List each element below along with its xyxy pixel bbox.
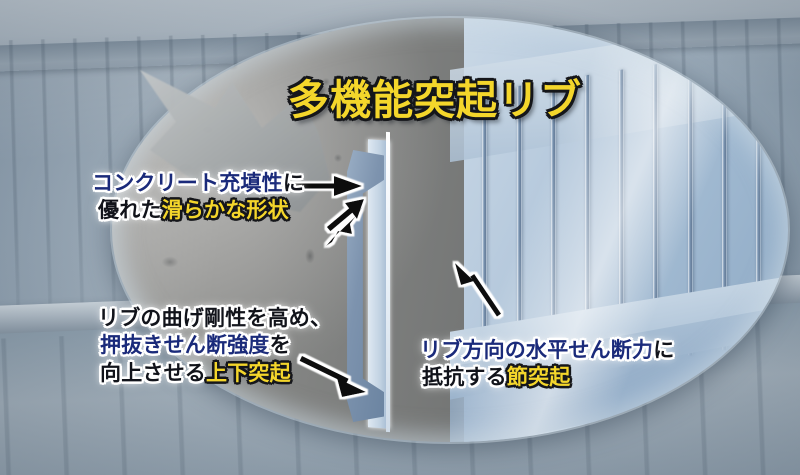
rib-front-edge (386, 132, 390, 432)
callout-text-dark: に (653, 338, 674, 362)
callout-text-dark: に (283, 171, 304, 195)
callout-text-navy: コンクリート充填性 (92, 171, 283, 195)
callout-line: 押抜きせん断強度を (100, 332, 331, 359)
page-title: 多機能突起リブ (288, 66, 582, 126)
callout-concrete-fillability: コンクリート充填性に 優れた滑らかな形状 (92, 170, 304, 225)
callout-text-dark: リブの曲げ剛性を高め、 (98, 306, 331, 330)
callout-line: 抵抗する節突起 (422, 364, 674, 391)
callout-line: リブ方向の水平せん断力に (420, 337, 674, 364)
callout-line: 向上させる上下突起 (100, 360, 331, 387)
callout-text-navy: 押抜きせん断強度 (100, 333, 270, 357)
callout-text-dark: を (270, 333, 291, 357)
callout-text-dark: 優れた (98, 198, 162, 222)
callout-text-highlight: 上下突起 (206, 361, 291, 385)
callout-text-dark: 向上させる (100, 361, 206, 385)
illustration-canvas: 多機能突起リブ コンクリート充填性に 優れた滑らかな形状 リブの曲げ剛性を高め、… (0, 0, 800, 475)
callout-text-highlight: 滑らかな形状 (162, 198, 289, 222)
callout-horizontal-shear-node: リブ方向の水平せん断力に 抵抗する節突起 (420, 337, 674, 392)
callout-line: 優れた滑らかな形状 (98, 197, 304, 224)
callout-text-dark: 抵抗する (422, 365, 507, 389)
callout-line: コンクリート充填性に (92, 170, 304, 197)
callout-text-navy: リブ方向の水平せん断力 (420, 338, 653, 362)
callout-rib-bending-stiffness: リブの曲げ剛性を高め、 押抜きせん断強度を 向上させる上下突起 (98, 305, 331, 387)
callout-text-highlight: 節突起 (507, 365, 571, 389)
callout-line: リブの曲げ剛性を高め、 (98, 305, 331, 332)
